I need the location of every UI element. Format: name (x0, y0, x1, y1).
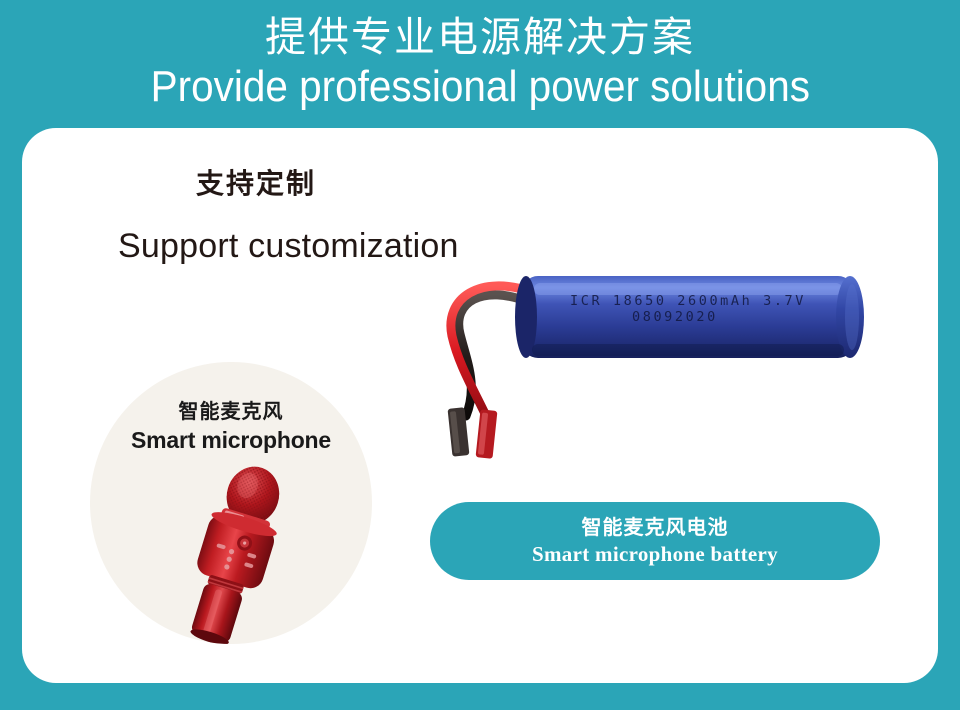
customization-title-cn: 支持定制 (196, 168, 316, 200)
battery-print-line-2: 08092020 (632, 309, 718, 325)
microphone-label-cn: 智能麦克风 (90, 400, 372, 424)
content-card: 支持定制 Support customization 智能麦克风 Smart m… (22, 128, 938, 683)
battery-caption-pill: 智能麦克风电池 Smart microphone battery (430, 502, 880, 580)
battery-caption-cn: 智能麦克风电池 (582, 516, 729, 541)
microphone-label-en: Smart microphone (90, 426, 372, 454)
header-title-cn: 提供专业电源解决方案 (265, 14, 695, 60)
battery-print-line-1: ICR 18650 2600mAh 3.7V (570, 293, 806, 309)
customization-title-en: Support customization (118, 226, 459, 266)
battery-caption-en: Smart microphone battery (532, 541, 778, 567)
microphone-photo-circle: 智能麦克风 Smart microphone (90, 362, 372, 644)
header-title-en: Provide professional power solutions (150, 62, 809, 112)
battery-product-image: ICR 18650 2600mAh 3.7V 08092020 (422, 258, 902, 473)
microphone-product-image (142, 462, 322, 644)
page-header: 提供专业电源解决方案 Provide professional power so… (0, 0, 960, 128)
